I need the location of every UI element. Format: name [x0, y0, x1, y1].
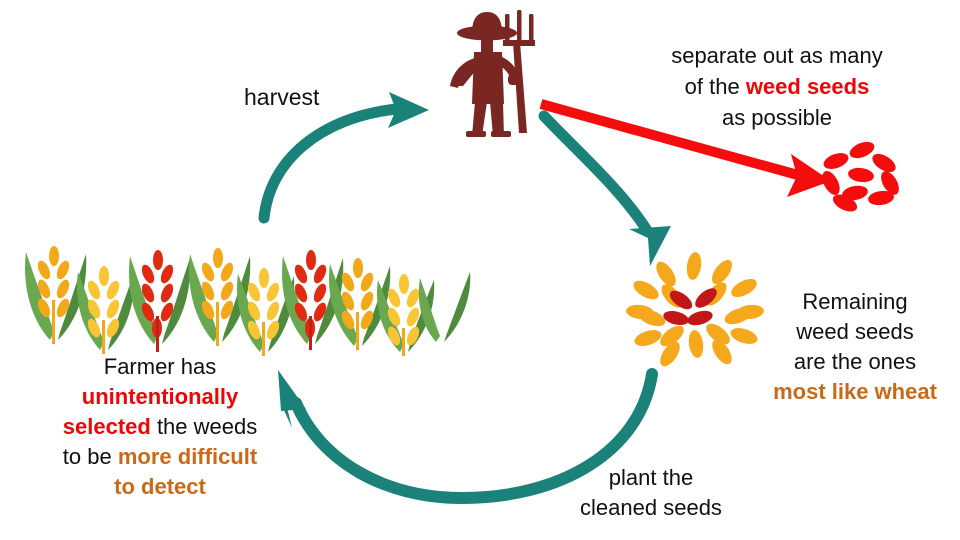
most-like-wheat-emphasis: most like wheat — [773, 379, 937, 404]
selected-emphasis: selected — [63, 414, 151, 439]
separate-line-3: as possible — [722, 105, 832, 130]
weed-seeds-emphasis: weed seeds — [746, 74, 870, 99]
harvest-label: harvest — [244, 82, 319, 112]
separate-line-2-plain: of the — [685, 74, 746, 99]
plant-line-1: plant the — [609, 465, 693, 490]
more-difficult-emphasis: more difficult — [118, 444, 257, 469]
separate-weed-seeds-label: separate out as many of the weed seeds a… — [632, 40, 922, 133]
to-detect-emphasis: to detect — [114, 474, 206, 499]
plant-cleaned-seeds-label: plant the cleaned seeds — [556, 463, 746, 523]
farmer-line-1: Farmer has — [104, 354, 216, 379]
farmer-with-pitchfork-icon — [450, 10, 535, 137]
remaining-line-1: Remaining — [802, 289, 907, 314]
red-weed-seeds-icon — [819, 139, 903, 215]
mixed-seeds-rosette-icon — [625, 251, 764, 369]
remaining-weed-seeds-label: Remaining weed seeds are the ones most l… — [756, 287, 954, 407]
remaining-line-2: weed seeds — [796, 319, 913, 344]
farmer-line-3-plain: to be — [63, 444, 118, 469]
unintentionally-emphasis: unintentionally — [82, 384, 238, 409]
farmer-selection-label: Farmer has unintentionally selected the … — [38, 352, 282, 502]
farmer-mid-text: the weeds — [151, 414, 257, 439]
separate-line-1: separate out as many — [671, 43, 883, 68]
plant-line-2: cleaned seeds — [580, 495, 722, 520]
wheat-field-icon — [25, 246, 470, 356]
diagram-canvas: harvest separate out as many of the weed… — [0, 0, 960, 540]
remaining-line-3: are the ones — [794, 349, 916, 374]
